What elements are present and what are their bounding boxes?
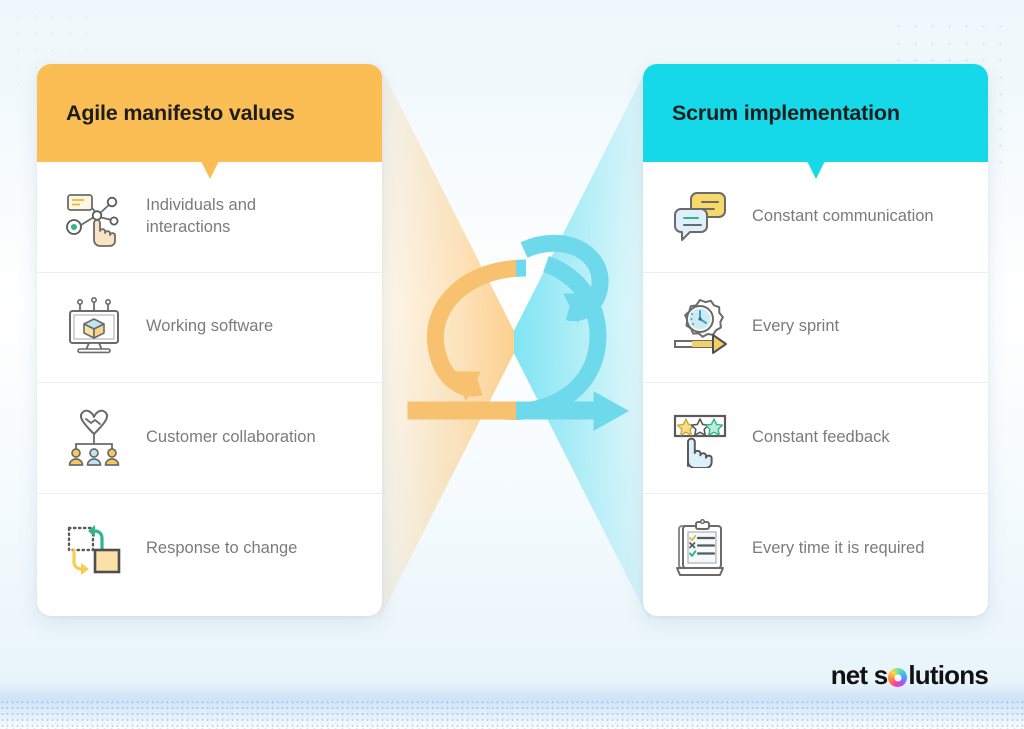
agile-card-header: Agile manifesto values bbox=[37, 64, 382, 162]
list-item-label: Individuals and interactions bbox=[146, 195, 341, 239]
list-item[interactable]: Response to change bbox=[37, 494, 382, 605]
list-item[interactable]: Working software bbox=[37, 273, 382, 384]
agile-spiral-arrow-icon bbox=[396, 222, 636, 437]
speech-bubbles-icon bbox=[668, 185, 732, 249]
gear-clock-arrow-icon bbox=[668, 295, 732, 359]
header-notch-pointer bbox=[807, 161, 825, 179]
center-gradient-bands bbox=[378, 62, 650, 622]
list-item-label: Constant feedback bbox=[752, 427, 890, 449]
list-item[interactable]: Customer collaboration bbox=[37, 383, 382, 494]
list-item[interactable]: Every time it is required bbox=[643, 494, 988, 605]
agile-card-rows: Individuals and interactions bbox=[37, 162, 382, 604]
scrum-implementation-card: Scrum implementation Constant communicat… bbox=[643, 64, 988, 616]
clipboard-checklist-icon bbox=[668, 517, 732, 581]
list-item-label: Customer collaboration bbox=[146, 427, 316, 449]
gradient-circle-o-icon bbox=[888, 668, 907, 687]
list-item-label: Working software bbox=[146, 316, 273, 338]
scrum-card-title: Scrum implementation bbox=[672, 101, 900, 126]
monitor-cube-icon bbox=[62, 295, 126, 359]
agile-manifesto-card: Agile manifesto values bbox=[37, 64, 382, 616]
handshake-team-icon bbox=[62, 406, 126, 470]
scrum-card-header: Scrum implementation bbox=[643, 64, 988, 162]
agile-card-title: Agile manifesto values bbox=[66, 101, 295, 126]
swap-squares-arrows-icon bbox=[62, 517, 126, 581]
center-band-left bbox=[378, 62, 514, 622]
center-band-right bbox=[514, 62, 650, 622]
infographic-canvas: Agile manifesto values bbox=[0, 0, 1024, 729]
net-solutions-logo: net s lutions bbox=[831, 660, 988, 691]
scrum-card-rows: Constant communication bbox=[643, 162, 988, 604]
list-item-label: Every time it is required bbox=[752, 538, 924, 560]
logo-text-before: net s bbox=[831, 660, 888, 691]
network-hand-pointer-icon bbox=[62, 185, 126, 249]
list-item[interactable]: Constant feedback bbox=[643, 383, 988, 494]
logo-text-after: lutions bbox=[908, 660, 988, 691]
list-item-label: Constant communication bbox=[752, 206, 934, 228]
list-item-label: Every sprint bbox=[752, 316, 839, 338]
list-item[interactable]: Every sprint bbox=[643, 273, 988, 384]
list-item-label: Response to change bbox=[146, 538, 297, 560]
star-rating-hand-icon bbox=[668, 406, 732, 470]
header-notch-pointer bbox=[201, 161, 219, 179]
